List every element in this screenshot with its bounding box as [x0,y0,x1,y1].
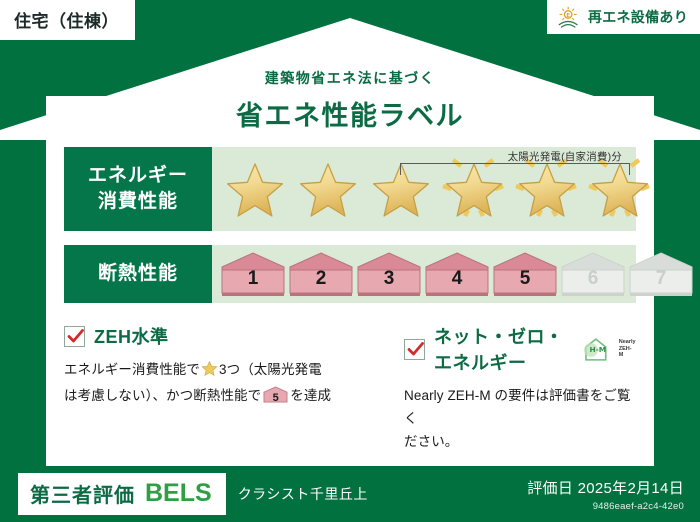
zeh-m-caption-line1: Nearly [619,339,636,345]
building-type-label: 住宅（住棟） [14,12,119,31]
energy-row-label: エネルギー 消費性能 [64,147,212,231]
insulation-label: 断熱性能 [98,261,178,287]
insulation-level-number: 4 [424,268,490,290]
insulation-level-number: 1 [220,268,286,290]
svg-text:H-M: H-M [590,345,607,354]
insulation-level-5: 5 [492,251,558,297]
energy-performance-row: エネルギー 消費性能 太陽光発電(自家消費)分 [64,147,636,231]
insulation-level-scale: 1234567 [212,245,636,303]
insulation-level-7: 7 [628,251,694,297]
building-name: クラシスト千里丘上 [238,484,368,504]
energy-star-1 [218,147,291,231]
solar-generation-note: 太陽光発電(自家消費)分 [508,149,622,164]
insulation-row-body: 1234567 [212,245,636,303]
insulation-level-number: 7 [628,268,694,290]
label-subtitle: 建築物省エネ法に基づく [64,68,636,88]
insulation-performance-row: 断熱性能 1234567 [64,245,636,303]
energy-label-line2: 消費性能 [98,189,178,215]
bels-jp-label: 第三者評価 [30,479,135,508]
insulation-level-3: 3 [356,251,422,297]
insulation-level-1: 1 [220,251,286,297]
zeh-text-b: 3つ（太陽光発電 [219,362,322,377]
net-zero-header: ネット・ゼロ・エネルギー H-M Nearly ZEH-M [404,323,636,375]
zeh-m-house-icon: H-M [583,336,617,362]
zeh-m-logo-caption: Nearly ZEH-M [619,339,636,360]
energy-star-2 [291,147,364,231]
evaluation-id: 9486eaef-a2c4-42e0 [527,501,684,512]
label-footer: 第三者評価 BELS クラシスト千里丘上 評価日 2025年2月14日 9486… [0,466,700,522]
sun-solar-icon: E [557,6,581,28]
energy-star-3 [364,147,437,231]
insulation-level-4: 4 [424,251,490,297]
renewable-badge-label: 再エネ設備あり [588,7,688,27]
zeh-text-d: を達成 [290,388,331,403]
energy-row-body: 太陽光発電(自家消費)分 [212,147,636,231]
solar-bracket [400,163,630,175]
label-title: 省エネ性能ラベル [64,94,636,133]
net-zero-text-line1: Nearly ZEH-M の要件は評価書をご覧く [404,388,631,426]
nearly-zeh-m-logo: H-M Nearly ZEH-M [583,336,636,362]
net-zero-text-line2: ださい。 [404,434,458,449]
footer-right: 評価日 2025年2月14日 9486eaef-a2c4-42e0 [527,477,684,512]
net-zero-title: ネット・ゼロ・エネルギー [434,323,568,375]
bels-energy-label: 住宅（住棟） E 再エネ設備あり 建築物省エネ法に基づく 省エネ性能ラベル [0,0,700,522]
insulation-level-2: 2 [288,251,354,297]
renewable-equipment-badge: E 再エネ設備あり [547,0,700,34]
star-icon-inline [201,360,218,384]
svg-text:E: E [566,13,570,19]
zeh-standard-block: ZEH水準 エネルギー消費性能で 3つ（太陽光発電 は考慮しない）、かつ断熱性能… [64,323,394,454]
insulation-badge-inline: 5 [263,386,288,403]
bels-certification-box: 第三者評価 BELS [18,473,226,515]
net-zero-description: Nearly ZEH-M の要件は評価書をご覧く ださい。 [404,384,636,454]
net-zero-checkbox [404,339,425,360]
insulation-badge-inline-number: 5 [263,389,288,408]
criteria-section: ZEH水準 エネルギー消費性能で 3つ（太陽光発電 は考慮しない）、かつ断熱性能… [64,323,636,454]
energy-star-4 [437,147,510,231]
insulation-level-number: 2 [288,268,354,290]
energy-label-line1: エネルギー [88,163,188,189]
bels-en-label: BELS [145,479,212,508]
net-zero-energy-block: ネット・ゼロ・エネルギー H-M Nearly ZEH-M [404,323,636,454]
zeh-text-c: は考慮しない）、かつ断熱性能で [64,388,261,403]
zeh-checkbox [64,326,85,347]
check-icon [66,327,85,346]
insulation-level-number: 5 [492,268,558,290]
evaluation-date: 評価日 2025年2月14日 [527,477,684,498]
label-main-content: 建築物省エネ法に基づく 省エネ性能ラベル エネルギー 消費性能 太陽光発電(自家… [46,96,654,466]
insulation-level-number: 6 [560,268,626,290]
zeh-standard-header: ZEH水準 [64,323,394,349]
insulation-level-number: 3 [356,268,422,290]
insulation-level-6: 6 [560,251,626,297]
insulation-row-label: 断熱性能 [64,245,212,303]
zeh-standard-title: ZEH水準 [94,323,169,349]
zeh-text-a: エネルギー消費性能で [64,362,200,377]
zeh-standard-description: エネルギー消費性能で 3つ（太陽光発電 は考慮しない）、かつ断熱性能で 5 を達… [64,358,394,407]
zeh-m-caption-line2: ZEH-M [619,346,632,359]
check-icon [406,340,425,359]
building-type-chip: 住宅（住棟） [0,0,135,40]
